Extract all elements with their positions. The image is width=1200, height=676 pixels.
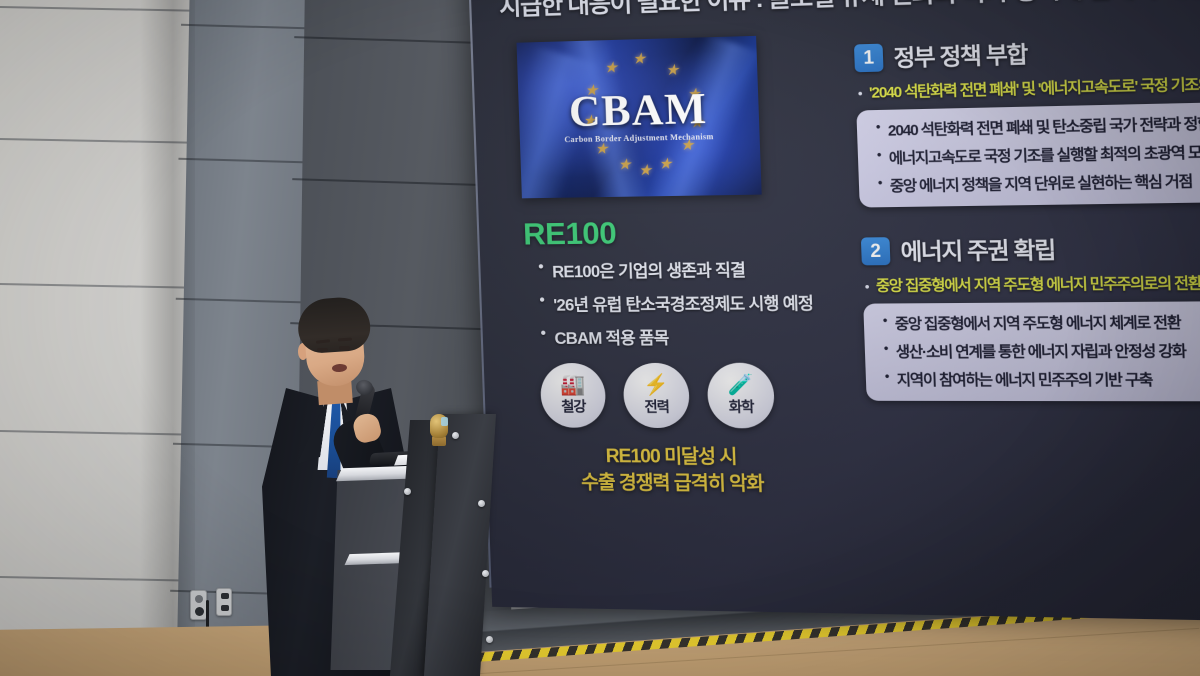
section-1-point-1: • 2040 석탄화력 전면 폐쇄 및 탄소중립 국가 전략과 정합 [876, 111, 1200, 141]
bullet-dot-icon: • [878, 175, 882, 197]
section-2-point-2-text: 생산·소비 연계를 통한 에너지 자립과 안정성 강화 [895, 340, 1186, 363]
section-1-point-3-text: 중앙 에너지 정책을 지역 단위로 실현하는 핵심 거점 [889, 170, 1192, 197]
category-steel: 🏭 철강 [540, 363, 607, 428]
lectern-trophy-ornament [428, 414, 450, 446]
section-1-point-2: • 에너지고속도로 국정 기조를 실행할 최적의 초광역 모델 [877, 140, 1200, 169]
section-1-title: 정부 정책 부합 [893, 36, 1028, 73]
warning-line-2: 수출 경쟁력 급격히 악화 [519, 469, 828, 498]
category-power-label: 전력 [644, 396, 669, 416]
left-bullet-2: • '26년 유럽 탄소국경조정제도 시행 예정 [539, 289, 853, 316]
section-2-badge: 2 [861, 237, 891, 265]
section-1-badge: 1 [854, 43, 884, 72]
bullet-dot-icon: • [864, 279, 869, 295]
category-chemical-label: 화학 [728, 396, 753, 417]
section-2-highlight: • 중앙 집중형에서 지역 주도형 에너지 민주주의로의 전환점 [864, 271, 1200, 296]
bullet-dot-icon: • [540, 325, 545, 349]
lectern-screw [452, 432, 459, 439]
section-2-point-3: • 지역이 참여하는 에너지 민주주의 기반 구축 [885, 368, 1200, 390]
bullet-dot-icon: • [539, 292, 544, 316]
lightning-bolt-icon: ⚡ [643, 375, 669, 395]
presentation-slide: 국가적 정합성과 글로벌 규제 대응 시급한 대응이 필요한 이유 : 글로벌 … [470, 0, 1200, 622]
section-2-point-1-text: 중앙 집중형에서 지역 주도형 에너지 체계로 전환 [894, 311, 1180, 334]
bullet-dot-icon: • [883, 313, 887, 335]
section-2-header: 2 에너지 주권 확립 [861, 229, 1200, 267]
left-bullet-2-text: '26년 유럽 탄소국경조정제도 시행 예정 [553, 290, 814, 316]
projection-screen: 국가적 정합성과 글로벌 규제 대응 시급한 대응이 필요한 이유 : 글로벌 … [470, 0, 1200, 622]
section-2-highlight-text: 중앙 집중형에서 지역 주도형 에너지 민주주의로의 전환점 [875, 272, 1200, 297]
section-2-point-2: • 생산·소비 연계를 통한 에너지 자립과 안정성 강화 [884, 339, 1200, 362]
factory-icon: 🏭 [560, 375, 586, 395]
left-bullet-3-text: CBAM 적용 품목 [554, 324, 669, 349]
slide-left-column: ★ ★ ★ ★ ★ ★ ★ ★ ★ ★ ★ ★ CBAM Carbon B [495, 33, 860, 498]
section-2-point-1: • 중앙 집중형에서 지역 주도형 에너지 체계로 전환 [883, 311, 1200, 335]
wall-shadow [140, 0, 195, 676]
presenter-hair [296, 296, 372, 355]
lectern-screw [482, 570, 489, 577]
section-2-panel: • 중앙 집중형에서 지역 주도형 에너지 체계로 전환 • 생산·소비 연계를… [863, 301, 1200, 401]
category-circles: 🏭 철강 ⚡ 전력 🧪 화학 [540, 363, 857, 429]
bullet-dot-icon: • [885, 369, 889, 391]
re100-heading: RE100 [523, 212, 851, 253]
wall-outlet-socket [216, 588, 232, 616]
wall-outlet-round [190, 590, 207, 620]
slide-right-column: 1 정부 정책 부합 • '2040 석탄화력 전면 폐쇄' 및 '에너지고속도… [854, 30, 1200, 421]
lectern-screw [404, 488, 411, 495]
section-1-point-3: • 중앙 에너지 정책을 지역 단위로 실현하는 핵심 거점 [878, 169, 1200, 197]
section-1-highlight-text: '2040 석탄화력 전면 폐쇄' 및 '에너지고속도로' 국정 기조의 최적지 [869, 72, 1200, 103]
bullet-dot-icon: • [876, 119, 880, 141]
section-1-header: 1 정부 정책 부합 [854, 30, 1200, 75]
lectern-screw [478, 500, 485, 507]
section-1: 1 정부 정책 부합 • '2040 석탄화력 전면 폐쇄' 및 '에너지고속도… [854, 30, 1200, 208]
bullet-dot-icon: • [877, 147, 881, 169]
warning-text: RE100 미달성 시 수출 경쟁력 급격히 악화 [518, 444, 828, 498]
flask-icon: 🧪 [727, 375, 754, 395]
bullet-dot-icon: • [538, 258, 543, 282]
section-2-point-3-text: 지역이 참여하는 에너지 민주주의 기반 구축 [896, 368, 1152, 390]
section-2: 2 에너지 주권 확립 • 중앙 집중형에서 지역 주도형 에너지 민주주의로의… [861, 229, 1200, 401]
section-1-panel: • 2040 석탄화력 전면 폐쇄 및 탄소중립 국가 전략과 정합 • 에너지… [856, 101, 1200, 207]
left-bullet-1-text: RE100은 기업의 생존과 직결 [552, 256, 746, 282]
left-bullet-3: • CBAM 적용 품목 [540, 323, 854, 349]
category-chemical: 🧪 화학 [706, 363, 775, 429]
presenter-eye-left [317, 348, 328, 352]
category-steel-label: 철강 [561, 396, 586, 416]
bullet-dot-icon: • [858, 86, 863, 102]
cbam-wordmark: CBAM [518, 83, 759, 138]
warning-line-1: RE100 미달성 시 [518, 444, 827, 472]
category-power: ⚡ 전력 [623, 363, 691, 428]
left-bullet-1: • RE100은 기업의 생존과 직결 [538, 255, 852, 282]
cbam-eu-flag-image: ★ ★ ★ ★ ★ ★ ★ ★ ★ ★ ★ ★ CBAM Carbon B [517, 36, 762, 198]
section-1-point-1-text: 2040 석탄화력 전면 폐쇄 및 탄소중립 국가 전략과 정합 [887, 112, 1200, 141]
section-1-point-2-text: 에너지고속도로 국정 기조를 실행할 최적의 초광역 모델 [888, 141, 1200, 169]
bullet-dot-icon: • [884, 341, 888, 363]
presenter-eye-right [339, 346, 350, 350]
section-2-title: 에너지 주권 확립 [900, 232, 1055, 267]
photo-scene: 국가적 정합성과 글로벌 규제 대응 시급한 대응이 필요한 이유 : 글로벌 … [0, 0, 1200, 676]
lectern-screw [486, 636, 493, 643]
section-1-highlight: • '2040 석탄화력 전면 폐쇄' 및 '에너지고속도로' 국정 기조의 최… [857, 71, 1200, 103]
slide-title: 시급한 대응이 필요한 이유 : 글로벌 규제 변화와 국가 정책에 선제적 대… [499, 0, 1200, 22]
